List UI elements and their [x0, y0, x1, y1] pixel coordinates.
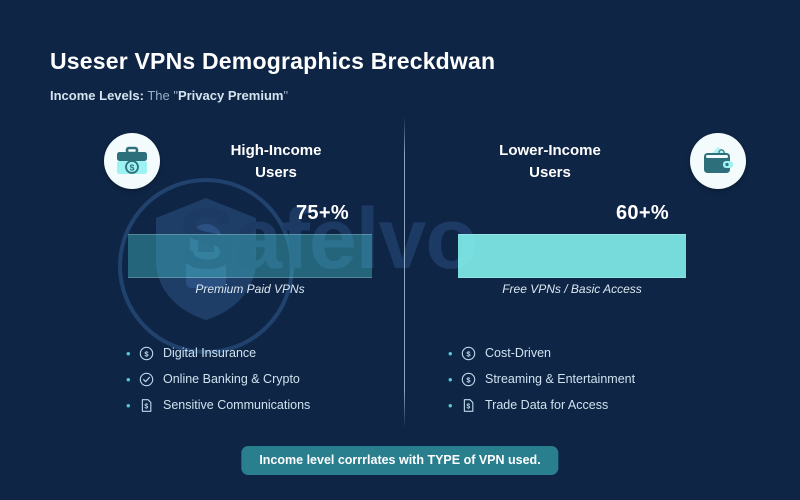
- subtitle-end: ": [283, 88, 288, 103]
- list-item-label: Digital Insurance: [163, 346, 256, 360]
- column-title: Lower-Income Users: [450, 140, 650, 184]
- bullet-dot: •: [126, 373, 136, 386]
- document-dollar-icon: $: [458, 398, 478, 413]
- usage-bar: [128, 234, 372, 278]
- svg-text:$: $: [144, 349, 149, 358]
- footer-banner: Income level corrrlates with TYPE of VPN…: [241, 446, 558, 475]
- briefcase-dollar-icon: $: [104, 133, 160, 189]
- bar-caption: Premium Paid VPNs: [128, 282, 372, 296]
- percent-value: 75+%: [296, 202, 349, 225]
- column-header: $ High-Income Users: [38, 118, 398, 194]
- circle-dollar-icon: $: [458, 346, 478, 361]
- list-item: • $ Trade Data for Access: [448, 392, 635, 418]
- circle-dollar-icon: $: [136, 346, 156, 361]
- column-header: Lower-Income Users: [404, 118, 764, 194]
- svg-text:$: $: [466, 403, 470, 410]
- bar-block: 60+% Free VPNs / Basic Access: [404, 202, 764, 298]
- circle-check-icon: [136, 372, 156, 387]
- feature-list: • $ Cost-Driven • $ Streaming &: [448, 340, 635, 418]
- bar-block: 75+% Premium Paid VPNs: [38, 202, 398, 298]
- feature-list: • $ Digital Insurance • Online: [126, 340, 310, 418]
- subtitle-emphasis: Privacy Premium: [178, 88, 284, 103]
- svg-text:$: $: [466, 349, 471, 358]
- list-item: • $ Digital Insurance: [126, 340, 310, 366]
- svg-text:$: $: [144, 403, 148, 410]
- column-title-line1: Lower-Income: [450, 140, 650, 162]
- list-item: • Online Banking & Crypto: [126, 366, 310, 392]
- bullet-dot: •: [448, 399, 458, 412]
- svg-text:$: $: [130, 162, 135, 172]
- list-item: • $ Streaming & Entertainment: [448, 366, 635, 392]
- column-title-line2: Users: [450, 162, 650, 184]
- circle-dollar-icon: $: [458, 372, 478, 387]
- column-lower-income: Lower-Income Users 60+% Free VPNs / Basi…: [404, 118, 764, 448]
- svg-text:$: $: [466, 375, 471, 384]
- list-item-label: Trade Data for Access: [485, 398, 608, 412]
- list-item-label: Cost-Driven: [485, 346, 551, 360]
- subtitle-mid: The ": [144, 88, 178, 103]
- infographic-root: Safelvo Useser VPNs Demographics Breckdw…: [0, 0, 800, 500]
- list-item: • $ Sensitive Communications: [126, 392, 310, 418]
- column-title: High-Income Users: [176, 140, 376, 184]
- bullet-dot: •: [448, 373, 458, 386]
- page-title: Useser VPNs Demographics Breckdwan: [50, 48, 495, 75]
- percent-value: 60+%: [616, 202, 669, 225]
- usage-bar: [458, 234, 686, 278]
- column-title-line1: High-Income: [176, 140, 376, 162]
- bullet-dot: •: [448, 347, 458, 360]
- list-item-label: Sensitive Communications: [163, 398, 310, 412]
- bullet-dot: •: [126, 347, 136, 360]
- subtitle-label: Income Levels:: [50, 88, 144, 103]
- bullet-dot: •: [126, 399, 136, 412]
- list-item-label: Streaming & Entertainment: [485, 372, 635, 386]
- column-title-line2: Users: [176, 162, 376, 184]
- wallet-money-icon: [690, 133, 746, 189]
- page-subtitle: Income Levels: The "Privacy Premium": [50, 88, 288, 103]
- list-item-label: Online Banking & Crypto: [163, 372, 300, 386]
- bar-caption: Free VPNs / Basic Access: [458, 282, 686, 296]
- document-dollar-icon: $: [136, 398, 156, 413]
- column-high-income: $ High-Income Users 75+% Premium Paid VP…: [38, 118, 398, 448]
- list-item: • $ Cost-Driven: [448, 340, 635, 366]
